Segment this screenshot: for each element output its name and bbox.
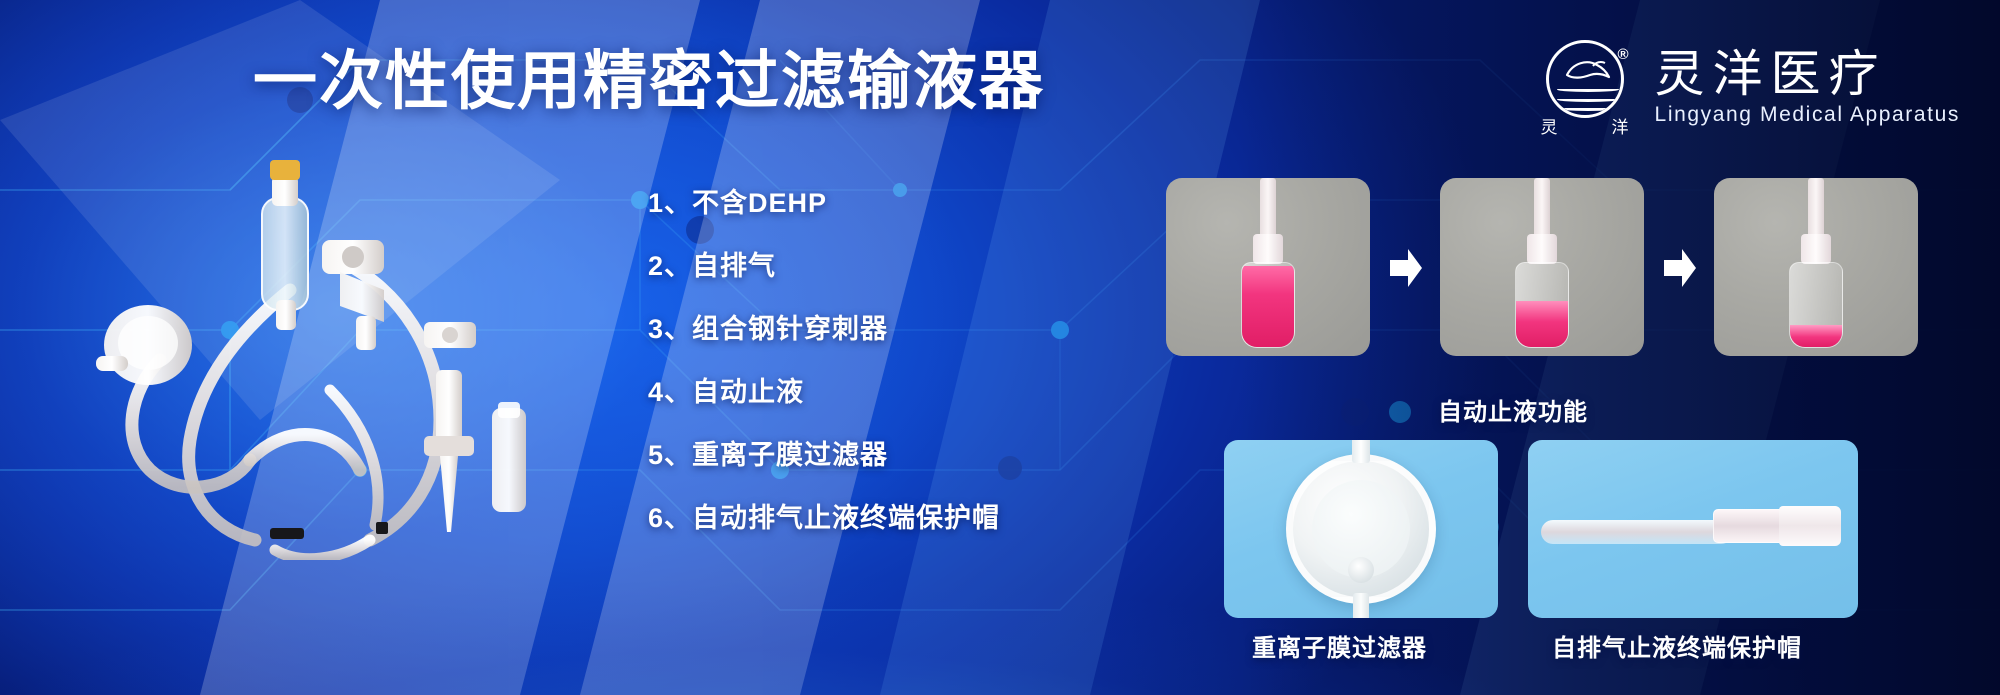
arrow-right-icon-2: [1662, 246, 1698, 290]
brand-logo: ® 灵 洋 灵洋医疗 Lingyang Medical Apparatus: [1537, 40, 1960, 136]
drip-chamber: [262, 160, 308, 330]
feature-item-5: 5、重离子膜过滤器: [648, 424, 1000, 487]
arrow-right-icon-1: [1388, 246, 1424, 290]
protective-cap-part: [1779, 506, 1842, 546]
cap-photo-panel: [1528, 440, 1858, 618]
air-filter-cap: [96, 305, 192, 385]
wave-icon: [1557, 106, 1619, 111]
filter-photo-panel: [1224, 440, 1498, 618]
feature-item-3: 3、组合钢针穿刺器: [648, 298, 1000, 361]
needle-assembly: [424, 370, 474, 532]
caption-cap: 自排气止液终端保护帽: [1552, 628, 1802, 663]
luer-hub-part: [1713, 509, 1786, 543]
caption-auto-stop: 自动止液功能: [1438, 392, 1588, 427]
logo-char-left: 灵: [1541, 113, 1558, 138]
page-title: 一次性使用精密过滤输液器: [253, 48, 1045, 115]
drip-chamber-stopped: [1789, 262, 1843, 348]
infusion-set-illustration: [40, 140, 680, 560]
caption-filter: 重离子膜过滤器: [1252, 628, 1427, 663]
registered-trademark-symbol: ®: [1617, 46, 1628, 63]
logo-char-right: 洋: [1612, 113, 1629, 138]
product-banner: 一次性使用精密过滤输液器 ® 灵 洋 灵洋医疗 Lingyang Medical…: [0, 0, 2000, 695]
drip-chamber-draining: [1515, 262, 1569, 348]
wave-icon: [1557, 87, 1619, 92]
wave-icon: [1557, 97, 1619, 102]
feature-item-2: 2、自排气: [648, 235, 1000, 298]
brand-name-cn: 灵洋医疗: [1655, 49, 1960, 99]
brand-name-en: Lingyang Medical Apparatus: [1655, 103, 1960, 127]
drip-chamber-full: [1241, 262, 1295, 348]
demo-photo-frame-2: [1440, 178, 1644, 356]
roller-clamp: [322, 240, 384, 274]
demo-photo-frame-3: [1714, 178, 1918, 356]
feature-item-6: 6、自动排气止液终端保护帽: [648, 487, 1000, 550]
terminal-protective-cap: [492, 402, 526, 512]
feature-item-1: 1、不含DEHP: [648, 172, 1000, 235]
product-photo: [40, 140, 680, 560]
feature-item-4: 4、自动止液: [648, 361, 1000, 424]
lingyang-emblem-icon: ® 灵 洋: [1537, 40, 1633, 136]
heavy-ion-membrane-filter-part: [1286, 454, 1436, 604]
fish-icon: [1563, 57, 1611, 87]
feature-list: 1、不含DEHP 2、自排气 3、组合钢针穿刺器 4、自动止液 5、重离子膜过滤…: [648, 172, 1000, 550]
inline-clamp: [424, 322, 476, 348]
tubing-part: [1541, 520, 1732, 544]
demo-photo-frame-1: [1166, 178, 1370, 356]
